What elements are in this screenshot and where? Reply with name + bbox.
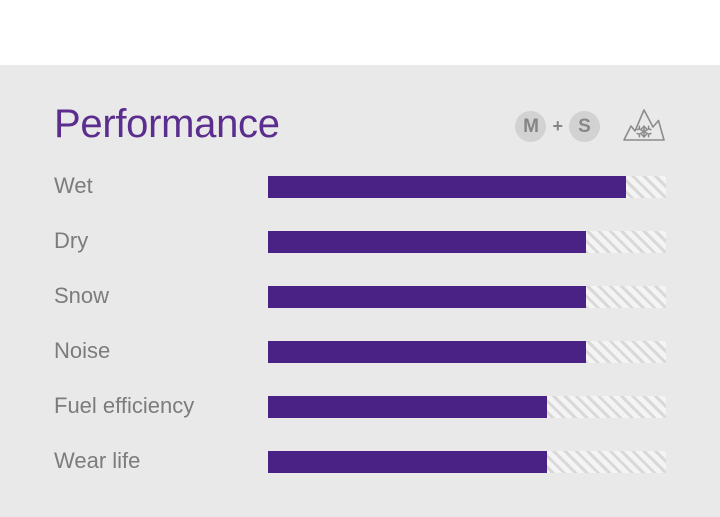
performance-row: Fuel efficiency <box>54 395 666 450</box>
bar-fill-snow <box>268 286 586 308</box>
screenshot-canvas: Performance M + S <box>0 0 720 517</box>
row-label-dry: Dry <box>54 221 88 261</box>
performance-row: Snow <box>54 285 666 340</box>
bar-track-fuel-efficiency <box>268 396 666 418</box>
m-badge-icon: M <box>515 111 546 142</box>
s-badge-icon: S <box>569 111 600 142</box>
bar-fill-wet <box>268 176 626 198</box>
performance-row: Wear life <box>54 450 666 505</box>
bar-track-wear-life <box>268 451 666 473</box>
row-label-snow: Snow <box>54 276 109 316</box>
bar-track-snow <box>268 286 666 308</box>
bar-fill-fuel-efficiency <box>268 396 547 418</box>
bar-track-dry <box>268 231 666 253</box>
certification-badges: M + S <box>515 104 666 148</box>
bar-track-wet <box>268 176 666 198</box>
performance-panel: Performance M + S <box>0 65 720 517</box>
row-label-fuel-efficiency: Fuel efficiency <box>54 386 194 426</box>
performance-rows: Wet Dry Snow Noise <box>54 175 666 505</box>
row-label-noise: Noise <box>54 331 110 371</box>
performance-row: Wet <box>54 175 666 230</box>
bar-fill-noise <box>268 341 586 363</box>
panel-header: Performance M + S <box>54 98 666 160</box>
row-label-wet: Wet <box>54 166 93 206</box>
plus-separator-icon: + <box>546 117 569 135</box>
page-title: Performance <box>54 98 280 150</box>
bar-fill-wear-life <box>268 451 547 473</box>
bar-fill-dry <box>268 231 586 253</box>
row-label-wear-life: Wear life <box>54 441 140 481</box>
three-peak-mountain-snowflake-icon <box>622 106 666 146</box>
performance-row: Dry <box>54 230 666 285</box>
bar-track-noise <box>268 341 666 363</box>
